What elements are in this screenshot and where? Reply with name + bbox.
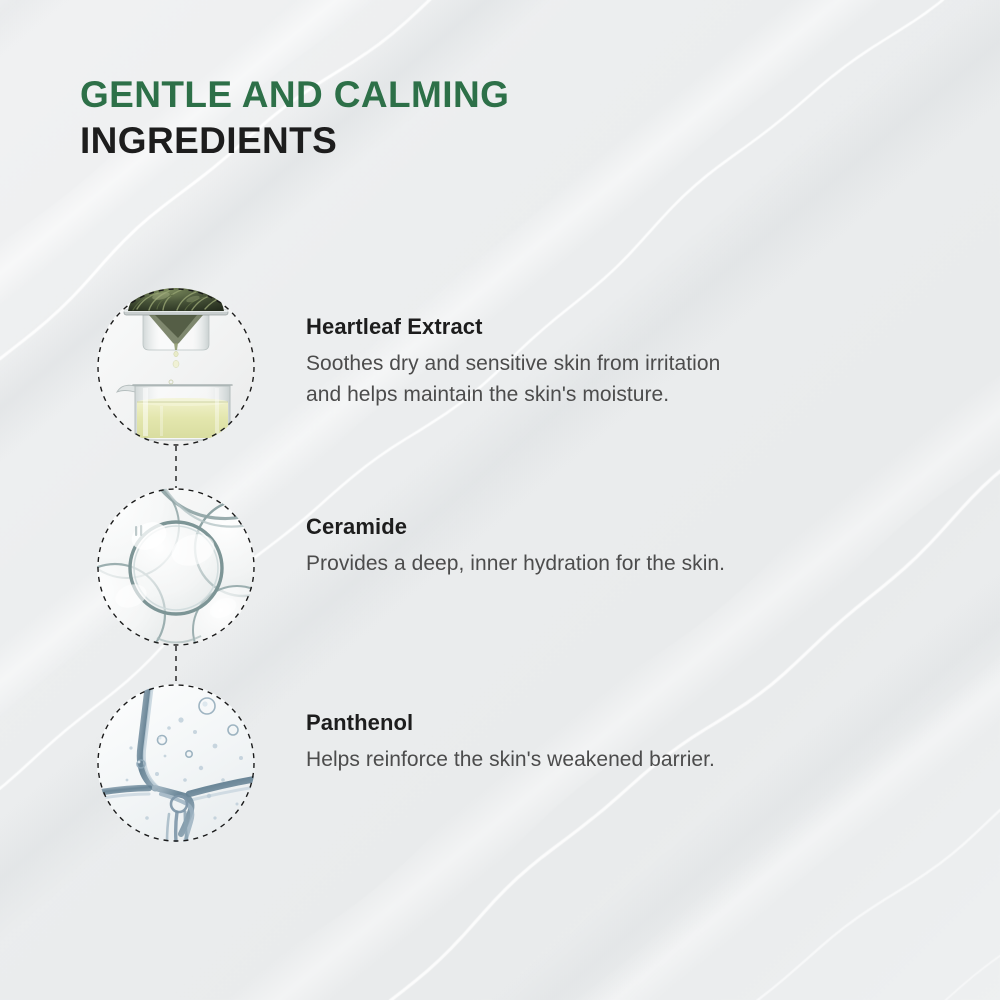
ingredient-description-line-1: Soothes dry and sensitive skin from irri…	[306, 348, 926, 379]
connector-ceramide-to-panthenol	[175, 646, 177, 684]
ceramide-glass-bubbles-illustration-icon	[97, 488, 255, 646]
ingredient-text-heartleaf: Heartleaf Extract Soothes dry and sensit…	[306, 314, 926, 410]
ingredient-item-panthenol: Panthenol Helps reinforce the skin's wea…	[0, 684, 1000, 842]
ingredient-description-line-1: Provides a deep, inner hydration for the…	[306, 548, 926, 579]
ingredient-title: Heartleaf Extract	[306, 314, 926, 340]
ingredient-text-panthenol: Panthenol Helps reinforce the skin's wea…	[306, 710, 926, 775]
ingredient-item-heartleaf: Heartleaf Extract Soothes dry and sensit…	[0, 288, 1000, 446]
ingredient-image-ceramide	[97, 488, 255, 646]
ingredient-image-panthenol	[97, 684, 255, 842]
heartleaf-photo-circle	[97, 288, 255, 446]
panthenol-photo-circle	[97, 684, 255, 842]
ingredient-description: Provides a deep, inner hydration for the…	[306, 548, 926, 579]
ingredient-item-ceramide: Ceramide Provides a deep, inner hydratio…	[0, 488, 1000, 646]
panthenol-gel-illustration-icon	[97, 684, 255, 842]
ceramide-photo-circle	[97, 488, 255, 646]
ingredient-title: Ceramide	[306, 514, 926, 540]
ingredient-description: Helps reinforce the skin's weakened barr…	[306, 744, 926, 775]
heartleaf-extract-illustration-icon	[97, 288, 255, 446]
page-title-line-1: GENTLE AND CALMING	[80, 72, 509, 118]
ingredient-title: Panthenol	[306, 710, 926, 736]
page-title: GENTLE AND CALMING INGREDIENTS	[80, 72, 509, 164]
ingredient-image-heartleaf	[97, 288, 255, 446]
ingredient-text-ceramide: Ceramide Provides a deep, inner hydratio…	[306, 514, 926, 579]
connector-heartleaf-to-ceramide	[175, 446, 177, 488]
ingredient-description-line-2: and helps maintain the skin's moisture.	[306, 379, 926, 410]
page-title-line-2: INGREDIENTS	[80, 118, 509, 164]
ingredients-page: GENTLE AND CALMING INGREDIENTS	[0, 0, 1000, 1000]
ingredient-description-line-1: Helps reinforce the skin's weakened barr…	[306, 744, 926, 775]
ingredient-description: Soothes dry and sensitive skin from irri…	[306, 348, 926, 410]
